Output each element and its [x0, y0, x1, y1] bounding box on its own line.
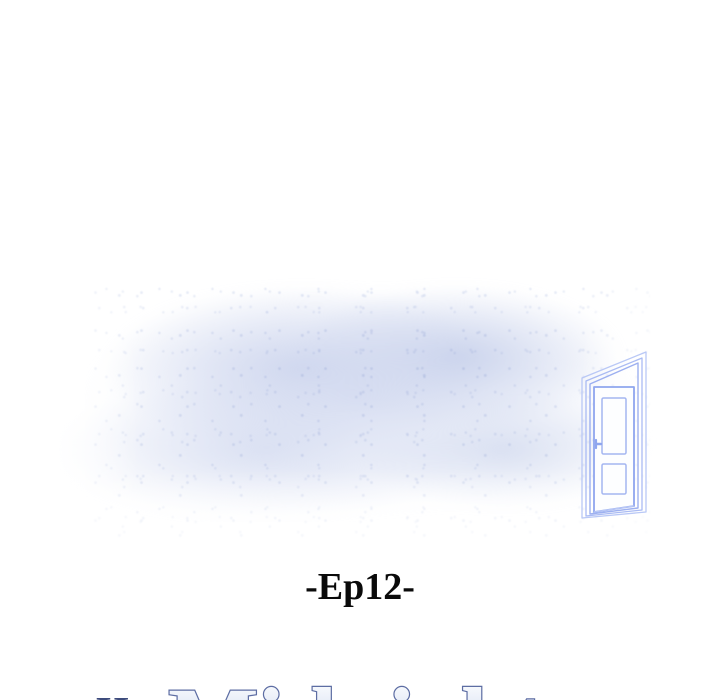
title-line-1-fill: Midnight	[168, 666, 544, 700]
title-prefix-her: Her	[96, 689, 166, 700]
episode-label: -Ep12-	[0, 565, 720, 609]
title-card: Her Midnight Midnight Sessions Sessions …	[0, 0, 720, 700]
title-lettering: Her Midnight Midnight Sessions Sessions	[0, 330, 720, 550]
title-line-1: Midnight Midnight	[168, 666, 544, 700]
